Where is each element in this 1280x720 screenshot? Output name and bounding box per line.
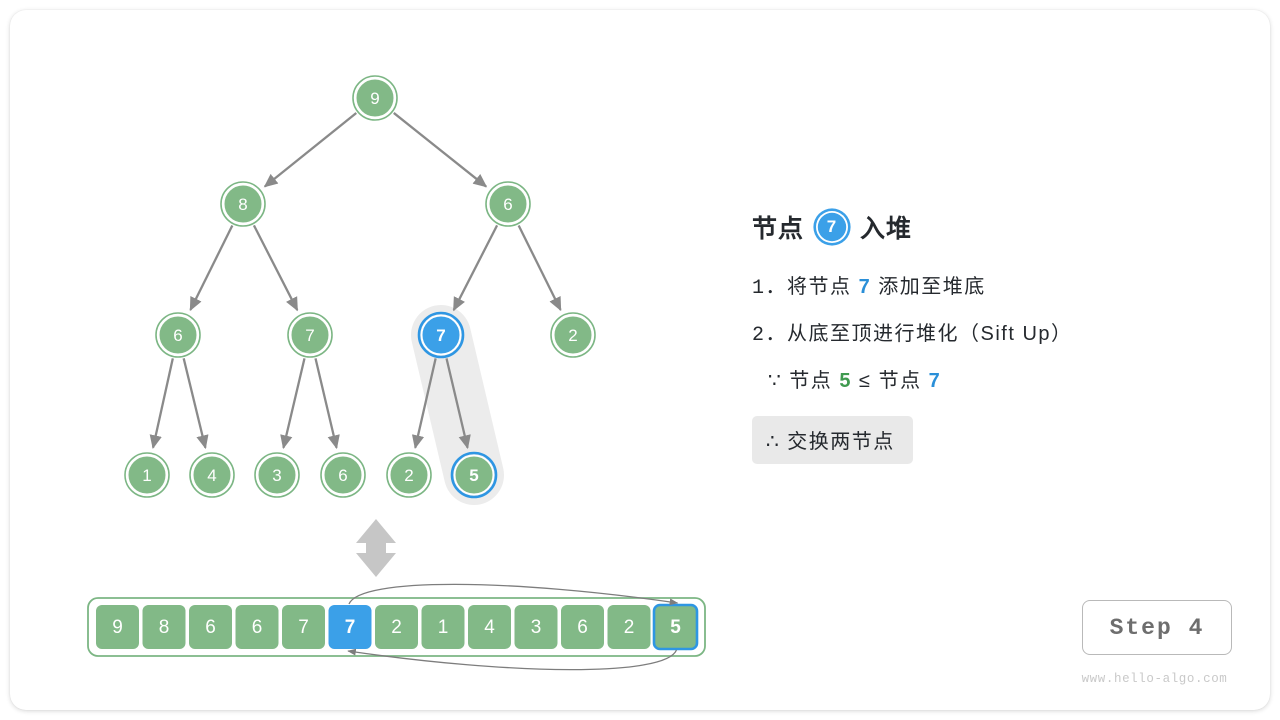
tree-node-5: 5: [452, 453, 496, 497]
tree-edge: [265, 113, 356, 186]
array-cell-label: 7: [345, 617, 356, 638]
tree-edge: [454, 225, 497, 310]
array-cell: 6: [236, 605, 279, 649]
tree-edge: [283, 358, 304, 447]
tree-node-7: 7: [419, 313, 463, 357]
premise-line: ∵ 节点 5 ≤ 节点 7: [768, 371, 1222, 391]
tree-node-6: 6: [321, 453, 365, 497]
array-cell-label: 5: [670, 617, 681, 638]
array-cell-label: 6: [252, 617, 263, 638]
array-cell: 6: [561, 605, 604, 649]
array-cell-label: 3: [531, 617, 542, 638]
array-cell-label: 8: [159, 617, 170, 638]
tree-node-2: 2: [551, 313, 595, 357]
premise-right-label: 节点: [879, 370, 922, 392]
tree-node-6: 6: [156, 313, 200, 357]
tree-node-label: 5: [469, 466, 478, 485]
array-cell-label: 2: [391, 617, 402, 638]
tree-node-label: 8: [238, 195, 247, 214]
tree-node-label: 1: [142, 466, 151, 485]
array-cell: 4: [468, 605, 511, 649]
array-cell: 9: [96, 605, 139, 649]
tree-node-6: 6: [486, 182, 530, 226]
step-badge: Step 4: [1082, 600, 1232, 655]
tree-edge: [190, 225, 232, 309]
explanation-panel: 节点 7 入堆 1．将节点 7 添加至堆底 2．从底至顶进行堆化（Sift Up…: [752, 205, 1222, 464]
panel-title-badge: 7: [816, 211, 848, 243]
array-cell-label: 7: [298, 617, 309, 638]
swap-arrow-forward: [349, 584, 678, 604]
tree-node-label: 7: [436, 326, 445, 345]
step-1-value: 7: [859, 276, 872, 298]
tree-node-label: 6: [173, 326, 182, 345]
tree-node-label: 3: [272, 466, 281, 485]
swap-arrow-backward: [348, 650, 677, 670]
step-1-index: 1．: [752, 277, 787, 300]
tree-node-label: 4: [207, 466, 216, 485]
tree-node-label: 9: [370, 89, 379, 108]
tree-edges: [153, 113, 561, 448]
panel-title: 节点 7 入堆: [752, 205, 1222, 249]
array-cell: 3: [515, 605, 558, 649]
tree-node-2: 2: [387, 453, 431, 497]
tree-node-label: 2: [568, 326, 577, 345]
tree-edge: [184, 358, 206, 447]
tree-node-label: 6: [338, 466, 347, 485]
tree-node-3: 3: [255, 453, 299, 497]
array-cell: 2: [608, 605, 651, 649]
tree-node-1: 1: [125, 453, 169, 497]
array-cell-label: 2: [624, 617, 635, 638]
conclusion-wrapper: ∴ 交换两节点: [752, 416, 1222, 464]
array-cell: 8: [143, 605, 186, 649]
tree-node-label: 2: [404, 466, 413, 485]
tree-nodes: 9866772143625: [125, 76, 595, 497]
step-2-index: 2．: [752, 324, 787, 347]
tree-node-4: 4: [190, 453, 234, 497]
step-1-after: 添加至堆底: [878, 276, 986, 298]
array-cell: 1: [422, 605, 465, 649]
array-cell: 5: [654, 605, 697, 649]
illustration-stage: 9866772143625 9866772143625 节点 7 入堆 1．将节…: [0, 0, 1280, 720]
array-cell: 7: [329, 605, 372, 649]
tree-node-label: 6: [503, 195, 512, 214]
premise-symbol: ∵: [768, 370, 782, 392]
tree-edge: [153, 358, 173, 447]
tree-node-7: 7: [288, 313, 332, 357]
premise-right-value: 7: [929, 370, 942, 392]
tree-node-9: 9: [353, 76, 397, 120]
premise-left-label: 节点: [789, 370, 832, 392]
array-cell-label: 9: [112, 617, 123, 638]
array-cell-label: 4: [484, 617, 495, 638]
step-item-2: 2．从底至顶进行堆化（Sift Up）: [752, 324, 1222, 346]
array-cell: 7: [282, 605, 325, 649]
tree-array-link-icon: [356, 519, 396, 577]
array-cell-label: 6: [205, 617, 216, 638]
premise-left-value: 5: [839, 370, 852, 392]
panel-title-prefix: 节点: [752, 209, 804, 245]
tree-edge: [254, 225, 297, 310]
array-cell: 2: [375, 605, 418, 649]
panel-title-suffix: 入堆: [860, 209, 912, 245]
step-list: 1．将节点 7 添加至堆底 2．从底至顶进行堆化（Sift Up） ∵ 节点 5…: [752, 277, 1222, 464]
tree-edge: [316, 358, 337, 447]
watermark: www.hello-algo.com: [1072, 672, 1237, 686]
array-view: 9866772143625: [88, 598, 705, 656]
step-item-1: 1．将节点 7 添加至堆底: [752, 277, 1222, 299]
tree-edge: [394, 113, 486, 187]
tree-node-label: 7: [305, 326, 314, 345]
array-cell-label: 6: [577, 617, 588, 638]
tree-node-8: 8: [221, 182, 265, 226]
array-cell-label: 1: [438, 617, 449, 638]
tree-edge: [519, 225, 561, 309]
conclusion-badge: ∴ 交换两节点: [752, 416, 913, 464]
array-cell: 6: [189, 605, 232, 649]
premise-operator: ≤: [859, 370, 871, 392]
conclusion-symbol: ∴: [766, 431, 780, 453]
conclusion-text: 交换两节点: [787, 431, 895, 453]
step-2-before: 从底至顶进行堆化（Sift Up）: [787, 323, 1073, 345]
step-1-before: 将节点: [787, 276, 852, 298]
